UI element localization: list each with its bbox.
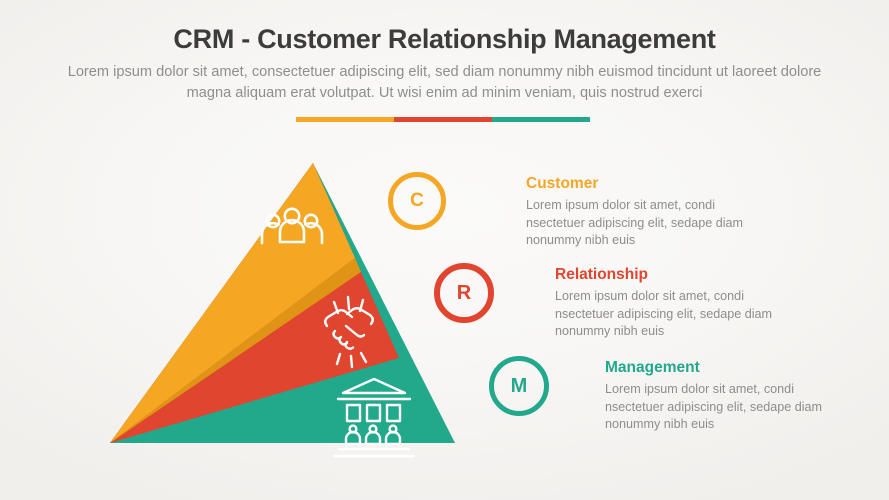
letter-badge-m: M	[489, 356, 549, 416]
page-title: CRM - Customer Relationship Management	[0, 24, 889, 55]
divider-segment-customer	[296, 117, 394, 122]
divider-segment-relationship	[394, 117, 492, 122]
item-description-customer: Lorem ipsum dolor sit amet, condi nsecte…	[526, 197, 776, 250]
item-title-customer: Customer	[526, 175, 776, 193]
item-title-management: Management	[605, 359, 855, 377]
letter-badge-r: R	[434, 263, 494, 323]
item-description-management: Lorem ipsum dolor sit amet, condi nsecte…	[605, 381, 855, 434]
item-text-block: Customer Lorem ipsum dolor sit amet, con…	[526, 172, 776, 250]
letter-badge-c: C	[388, 172, 446, 230]
item-text-block: Relationship Lorem ipsum dolor sit amet,…	[555, 263, 805, 341]
list-item-management[interactable]: M Management Lorem ipsum dolor sit amet,…	[489, 356, 855, 434]
divider-segment-management	[492, 117, 590, 122]
infographic-stage: CRM - Customer Relationship Management L…	[0, 0, 889, 500]
list-item-customer[interactable]: C Customer Lorem ipsum dolor sit amet, c…	[388, 172, 776, 250]
tricolor-divider	[296, 117, 590, 122]
item-text-block: Management Lorem ipsum dolor sit amet, c…	[605, 356, 855, 434]
page-subtitle: Lorem ipsum dolor sit amet, consectetuer…	[60, 62, 830, 104]
item-title-relationship: Relationship	[555, 266, 805, 284]
list-item-relationship[interactable]: R Relationship Lorem ipsum dolor sit ame…	[434, 263, 805, 341]
item-description-relationship: Lorem ipsum dolor sit amet, condi nsecte…	[555, 288, 805, 341]
